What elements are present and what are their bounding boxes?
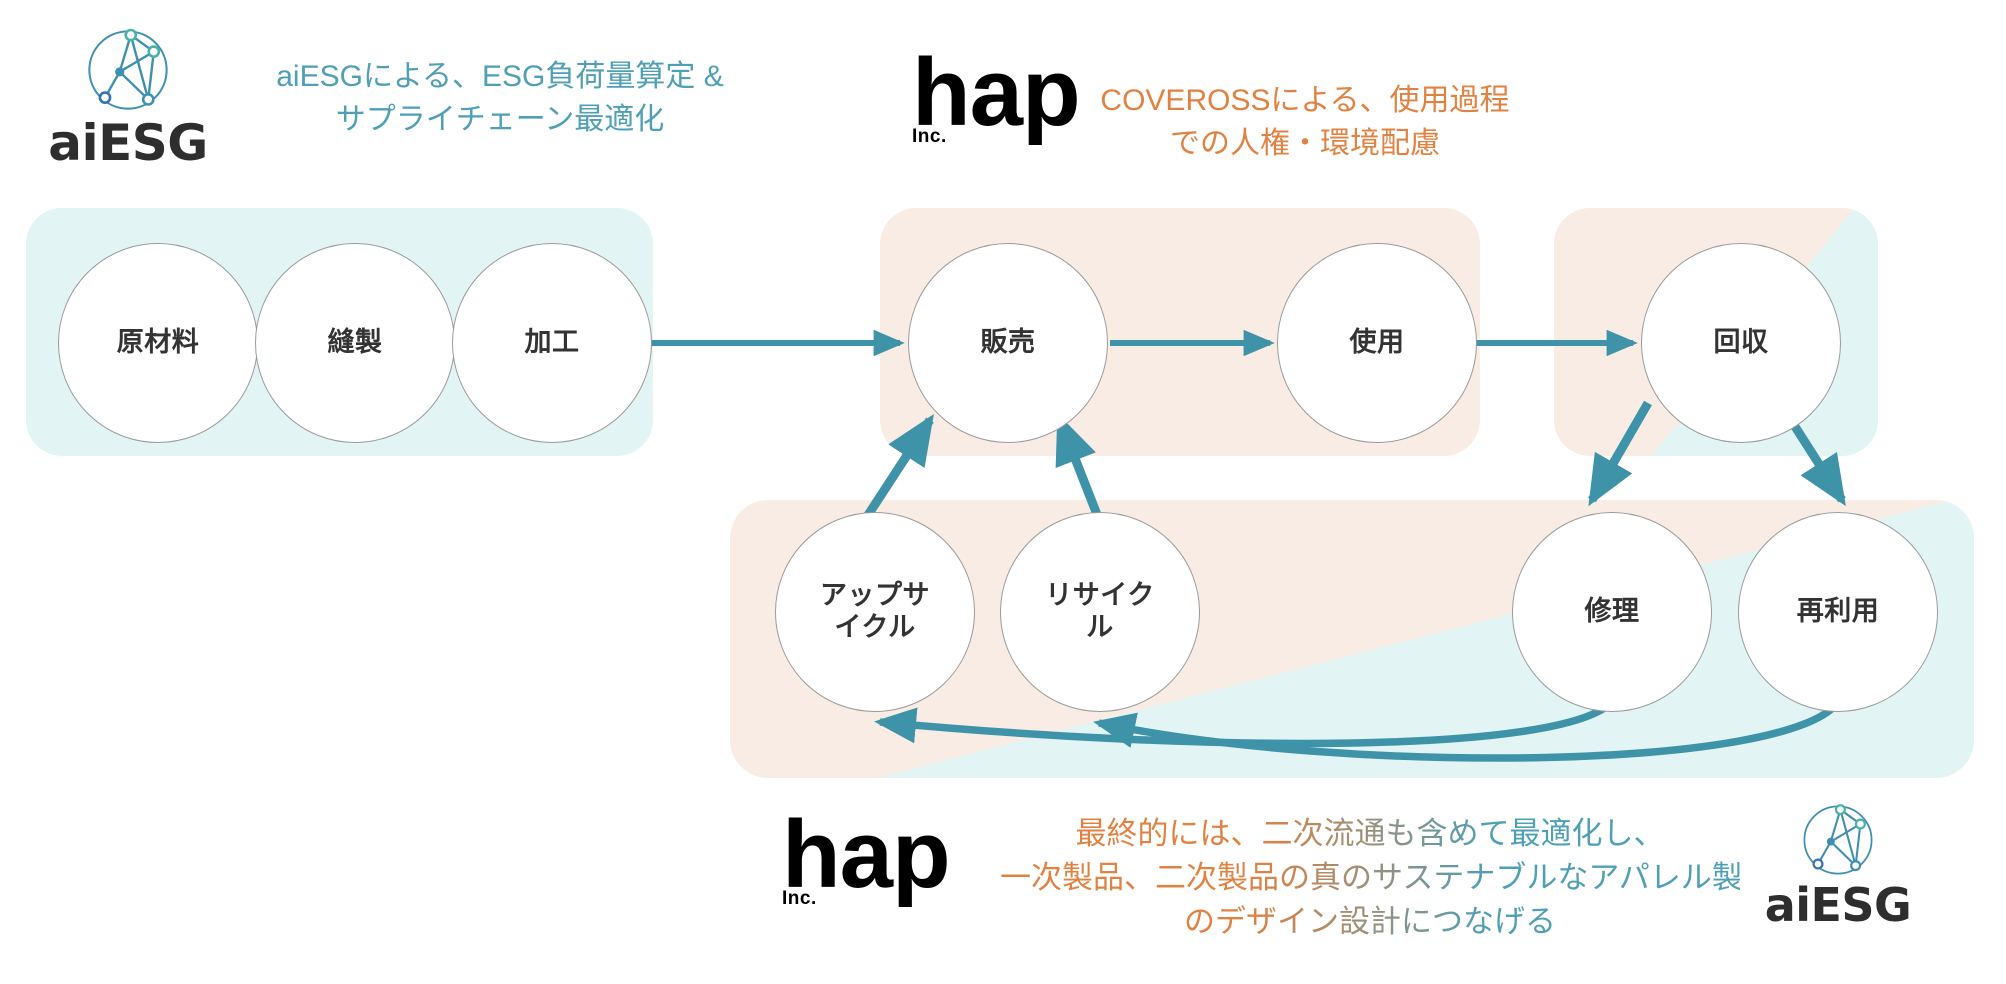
aiesg-wordmark: aiESG [48, 118, 208, 168]
caption-bottom-line2: 一次製品、二次製品の真のサステナブルなアパレル製品 [1000, 856, 1740, 900]
caption-bottom: 最終的には、二次流通も含めて最適化し、 一次製品、二次製品の真のサステナブルなア… [1000, 812, 1740, 944]
caption-bottom-line1: 最終的には、二次流通も含めて最適化し、 [1000, 812, 1740, 856]
node-sewing[interactable]: 縫製 [255, 243, 455, 443]
node-raw-material[interactable]: 原材料 [58, 243, 258, 443]
hap-wordmark-bottom: hap [782, 818, 950, 893]
node-upcycle-label: アップサ イクル [820, 580, 930, 644]
caption-bottom-line3: のデザイン設計につなげる [1000, 900, 1740, 944]
hap-logo-bottom: hap Inc. [782, 818, 950, 908]
node-reuse-label: 再利用 [1797, 596, 1880, 628]
node-recycle[interactable]: リサイク ル [1000, 512, 1200, 712]
node-reuse[interactable]: 再利用 [1738, 512, 1938, 712]
node-repair-label: 修理 [1585, 596, 1640, 628]
node-use-label: 使用 [1350, 327, 1405, 359]
aiesg-network-icon [82, 24, 174, 116]
aiesg-network-icon-bottom [1798, 800, 1878, 880]
caption-aiesg-top: aiESGによる、ESG負荷量算定 & サプライチェーン最適化 [210, 56, 790, 141]
node-repair[interactable]: 修理 [1512, 512, 1712, 712]
node-sales[interactable]: 販売 [908, 243, 1108, 443]
node-collection-label: 回収 [1714, 327, 1769, 359]
node-use[interactable]: 使用 [1277, 243, 1477, 443]
node-sales-label: 販売 [981, 327, 1036, 359]
diagram-canvas: aiESG aiESGによる、ESG負荷量算定 & サプライチェーン最適化 ha… [0, 0, 2006, 984]
caption-aiesg-top-line1: aiESGによる、ESG負荷量算定 & [210, 56, 790, 99]
node-processing-label: 加工 [525, 327, 580, 359]
aiesg-logo-top: aiESG [58, 24, 198, 168]
aiesg-wordmark-bottom: aiESG [1765, 882, 1912, 928]
node-recycle-label: リサイク ル [1045, 580, 1154, 644]
hap-logo-top: hap Inc. [912, 56, 1080, 146]
aiesg-logo-bottom: aiESG [1768, 800, 1908, 928]
node-collection[interactable]: 回収 [1641, 243, 1841, 443]
node-raw-material-label: 原材料 [117, 327, 200, 359]
node-processing[interactable]: 加工 [452, 243, 652, 443]
hap-wordmark: hap [912, 56, 1080, 131]
caption-aiesg-top-line2: サプライチェーン最適化 [210, 99, 790, 142]
caption-hap-top: COVEROSSによる、使用過程 での人権・環境配慮 [1090, 80, 1520, 165]
node-sewing-label: 縫製 [328, 327, 383, 359]
node-upcycle[interactable]: アップサ イクル [775, 512, 975, 712]
caption-hap-top-line2: での人権・環境配慮 [1090, 123, 1520, 166]
caption-hap-top-line1: COVEROSSによる、使用過程 [1090, 80, 1520, 123]
